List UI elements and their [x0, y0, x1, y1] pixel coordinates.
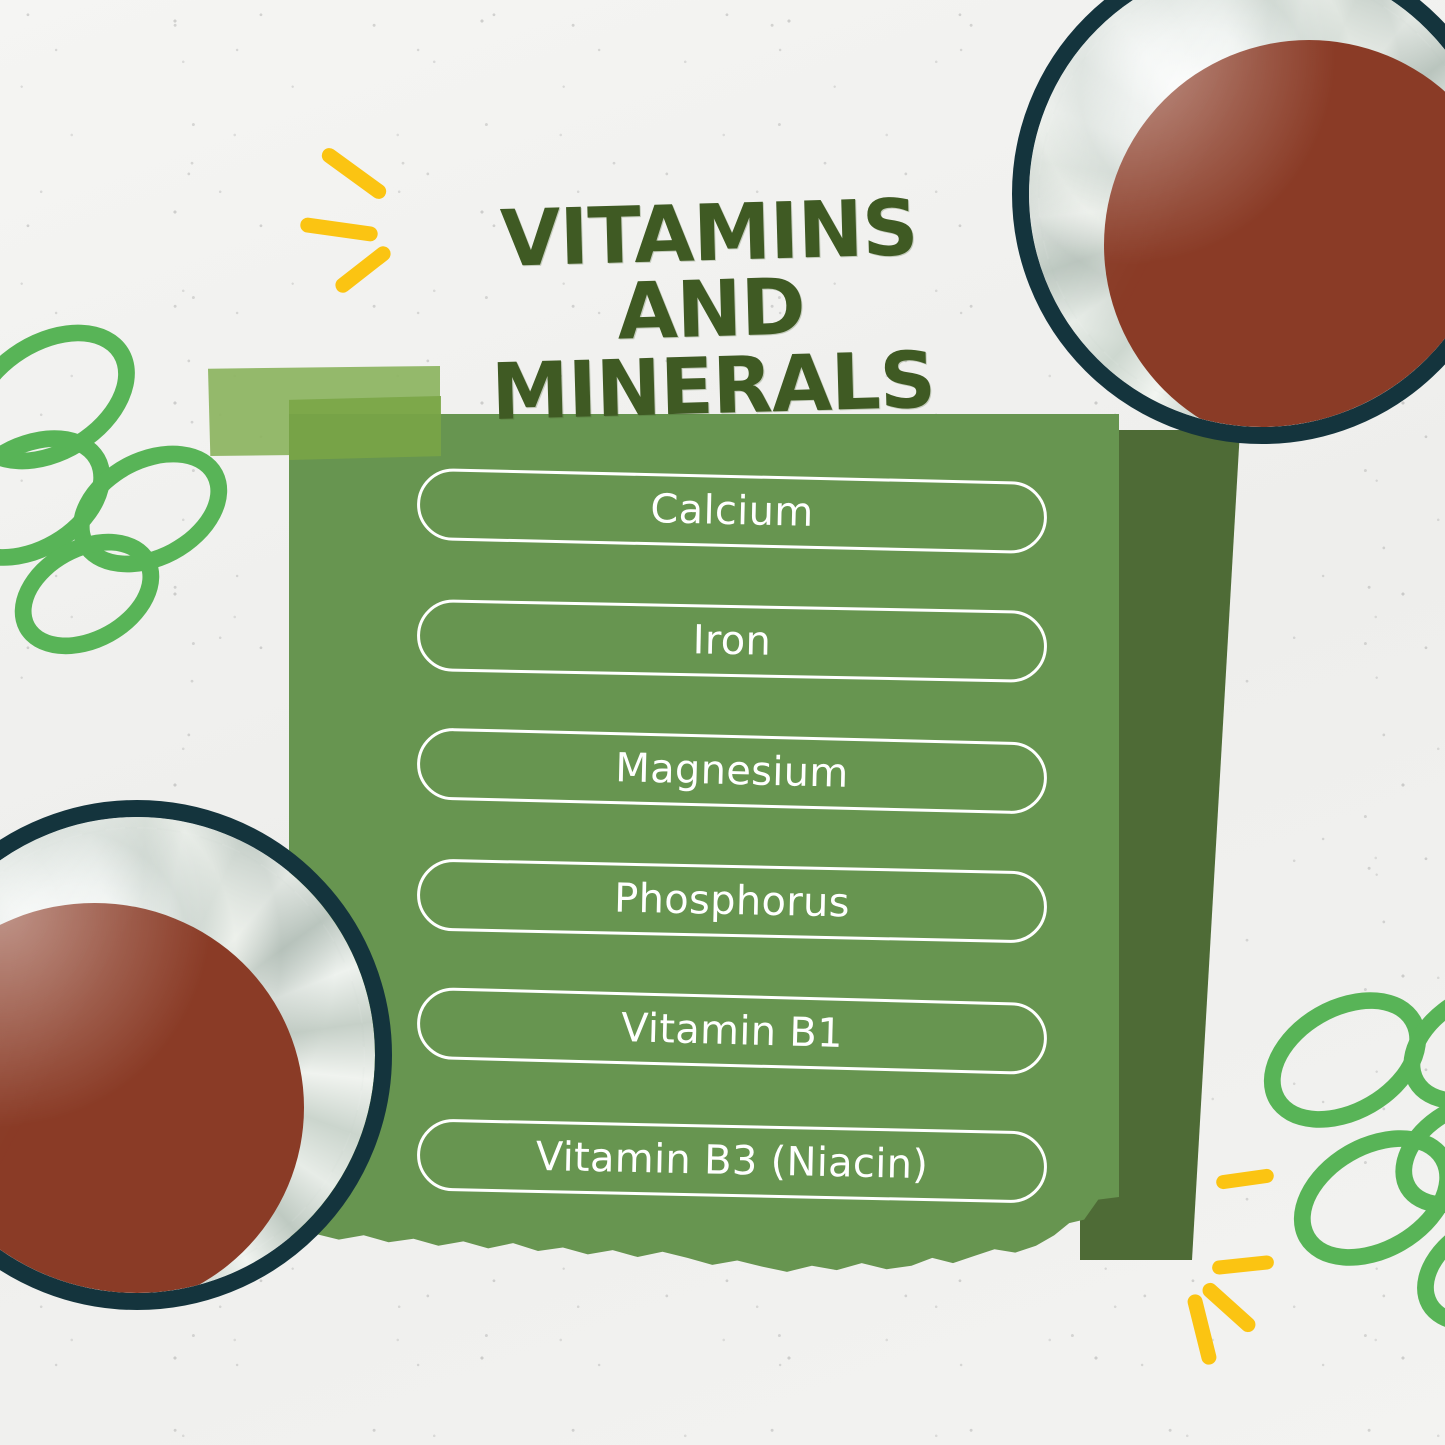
title-line-2: MINERALS	[397, 340, 1029, 434]
title-line-1: VITAMINS AND	[499, 183, 918, 358]
nutrient-pill-vitamin-b1[interactable]: Vitamin B1	[416, 987, 1048, 1075]
nutrient-pill-phosphorus[interactable]: Phosphorus	[416, 858, 1047, 943]
nutrient-label: Iron	[692, 617, 771, 664]
nutrient-list: Calcium Iron Magnesium Phosphorus Vitami…	[417, 475, 1047, 1255]
nutrient-pill-calcium[interactable]: Calcium	[416, 468, 1047, 554]
bowl-inner	[1029, 0, 1445, 427]
nutrient-label: Phosphorus	[614, 876, 851, 927]
page-title: VITAMINS AND MINERALS	[393, 187, 1029, 434]
nutrient-label: Vitamin B1	[621, 1005, 844, 1057]
nutrient-pill-magnesium[interactable]: Magnesium	[416, 727, 1048, 814]
nutrient-pill-vitamin-b3[interactable]: Vitamin B3 (Niacin)	[416, 1118, 1047, 1203]
infographic-canvas: Calcium Iron Magnesium Phosphorus Vitami…	[0, 0, 1445, 1445]
nutrient-label: Vitamin B3 (Niacin)	[535, 1134, 928, 1188]
bowl-inner	[0, 817, 375, 1293]
nutrient-label: Calcium	[650, 486, 814, 536]
nutrient-pill-iron[interactable]: Iron	[416, 599, 1047, 683]
nutrient-label: Magnesium	[615, 745, 849, 797]
